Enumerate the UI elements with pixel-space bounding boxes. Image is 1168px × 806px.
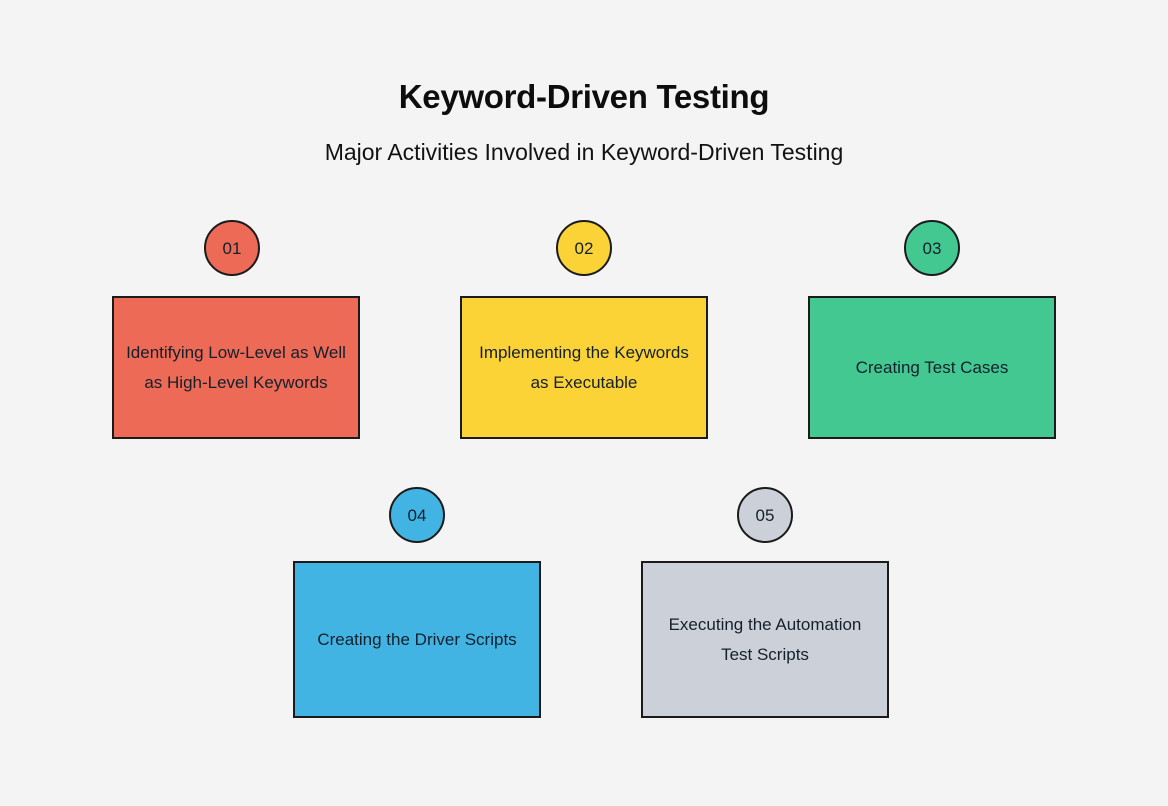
step-card-04: Creating the Driver Scripts (293, 561, 541, 718)
step-card-03: Creating Test Cases (808, 296, 1056, 439)
step-number-badge-04: 04 (389, 487, 445, 543)
page-subtitle: Major Activities Involved in Keyword-Dri… (0, 139, 1168, 167)
page-title: Keyword-Driven Testing (0, 78, 1168, 116)
step-number-badge-01: 01 (204, 220, 260, 276)
infographic-canvas: Keyword-Driven Testing Major Activities … (0, 0, 1168, 806)
heading-block: Keyword-Driven Testing Major Activities … (0, 78, 1168, 167)
step-card-05: Executing the Automation Test Scripts (641, 561, 889, 718)
step-card-02: Implementing the Keywords as Executable (460, 296, 708, 439)
step-number-badge-02: 02 (556, 220, 612, 276)
step-number-badge-05: 05 (737, 487, 793, 543)
step-number-badge-03: 03 (904, 220, 960, 276)
step-card-01: Identifying Low-Level as Well as High-Le… (112, 296, 360, 439)
